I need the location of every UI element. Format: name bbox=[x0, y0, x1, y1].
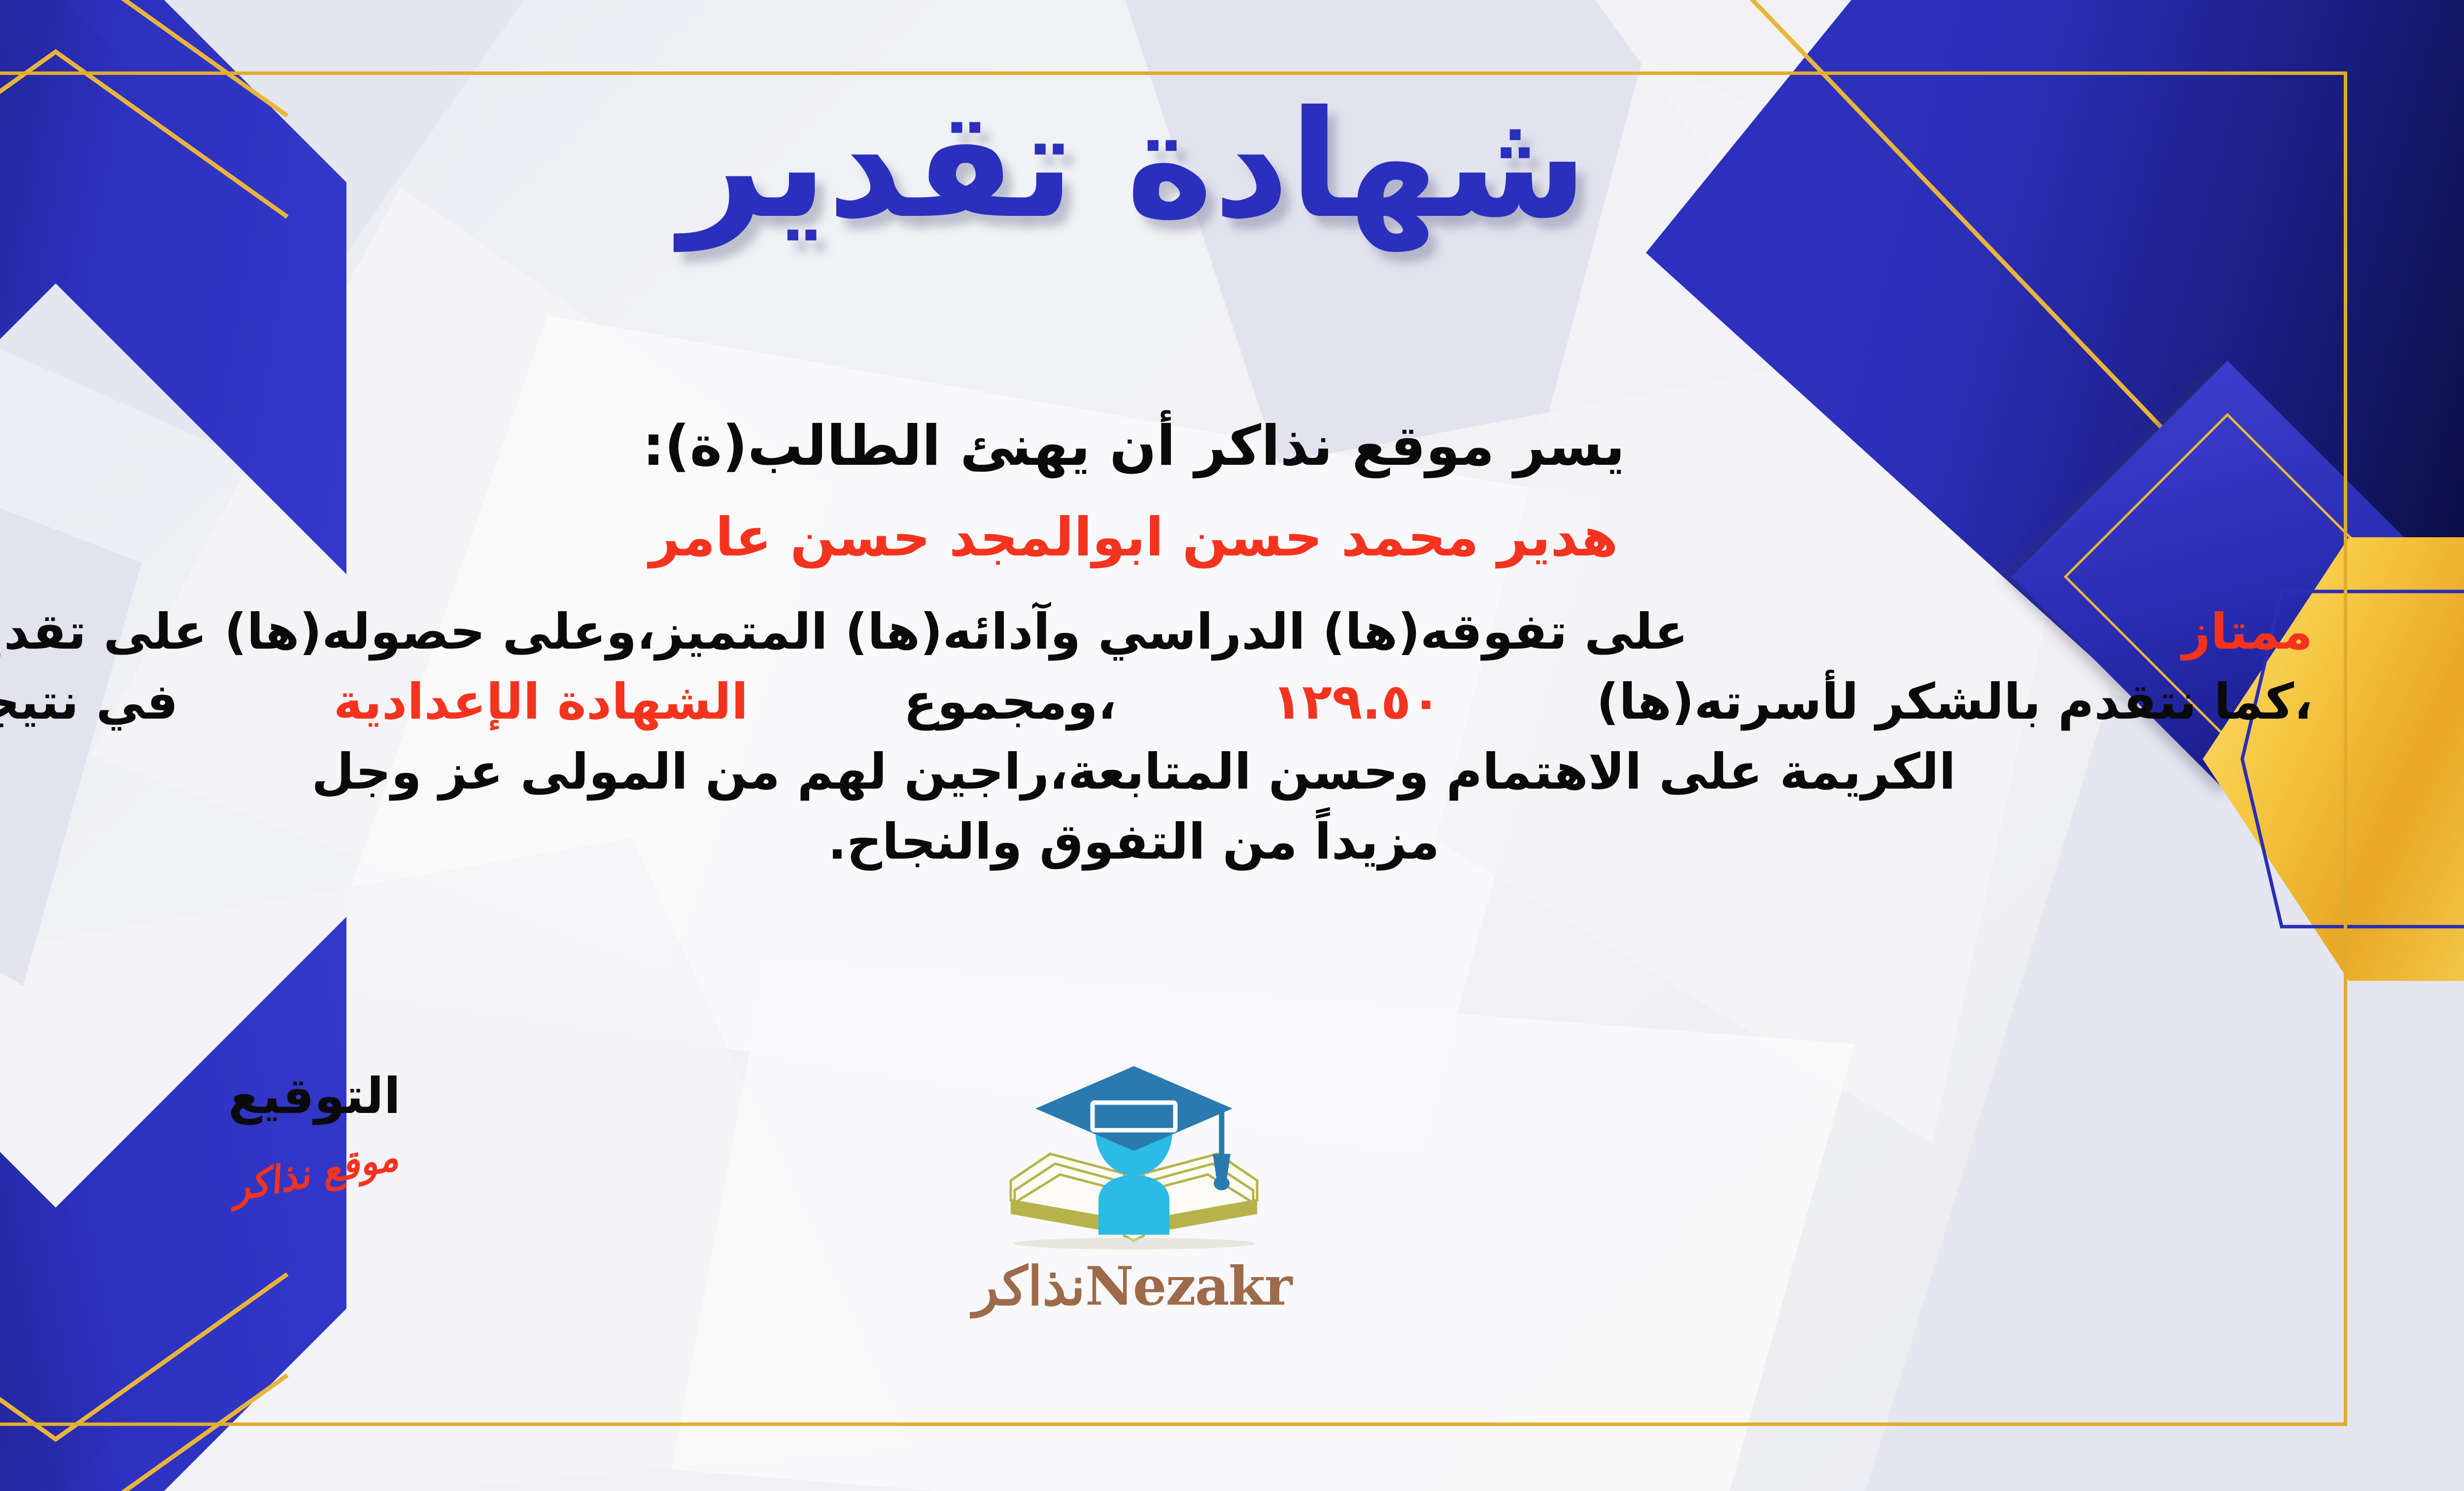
citation-line-2-tail: ،كما نتقدم بالشكر لأسرته(ها) bbox=[1597, 667, 2313, 737]
certificate-body: يسر موقع نذاكر أن يهنئ الطالب(ة): هدير م… bbox=[0, 412, 2313, 877]
greeting-line: يسر موقع نذاكر أن يهنئ الطالب(ة): bbox=[0, 412, 2313, 481]
site-logo: Nezakrنذاكر bbox=[976, 1057, 1292, 1318]
citation-paragraph: ممتاز على تفوقه(ها) الدراسي وآدائه(ها) ا… bbox=[0, 597, 2313, 877]
certificate-footer: التوقيع موقع نذاكر bbox=[0, 1067, 2347, 1402]
certificate-title: شهادة تقدير bbox=[0, 91, 2347, 239]
logo-arabic-name: نذاكر bbox=[973, 1255, 1085, 1318]
certificate-page: شهادة تقدير يسر موقع نذاكر أن يهنئ الطال… bbox=[0, 0, 2464, 1491]
signature-script: موقع نذاكر bbox=[126, 1115, 502, 1229]
citation-line-2: ،كما نتقدم بالشكر لأسرته(ها) ١٢٩.٥٠ ،ومج… bbox=[0, 667, 2313, 737]
student-name: هدير محمد حسن ابوالمجد حسن عامر bbox=[0, 503, 2313, 572]
logo-wordmark: Nezakrنذاكر bbox=[976, 1255, 1292, 1318]
grade-value: ممتاز bbox=[2182, 597, 2313, 667]
citation-line-1-text: على تفوقه(ها) الدراسي وآدائه(ها) المتميز… bbox=[0, 597, 1688, 667]
citation-line-4: مزيداً من التفوق والنجاح. bbox=[0, 807, 2313, 877]
citation-line-1: ممتاز على تفوقه(ها) الدراسي وآدائه(ها) ا… bbox=[0, 597, 2313, 667]
result-label: في نتيجة bbox=[0, 667, 178, 737]
citation-line-3: الكريمة على الاهتمام وحسن المتابعة،راجين… bbox=[0, 737, 2313, 807]
signature-label: التوقيع bbox=[127, 1067, 502, 1125]
citation-line-4-text: مزيداً من التفوق والنجاح. bbox=[828, 807, 1439, 877]
graduation-book-logo-icon bbox=[976, 1057, 1292, 1264]
logo-latin-name: Nezakr bbox=[1085, 1255, 1291, 1318]
total-label: ،ومجموع bbox=[904, 667, 1117, 737]
total-score-value: ١٢٩.٥٠ bbox=[1272, 667, 1441, 737]
signature-block: التوقيع موقع نذاكر bbox=[127, 1067, 502, 1194]
certificate-content: شهادة تقدير يسر موقع نذاكر أن يهنئ الطال… bbox=[0, 71, 2347, 1426]
citation-line-3-text: الكريمة على الاهتمام وحسن المتابعة،راجين… bbox=[311, 737, 1956, 807]
certificate-name-value: الشهادة الإعدادية bbox=[334, 667, 749, 737]
